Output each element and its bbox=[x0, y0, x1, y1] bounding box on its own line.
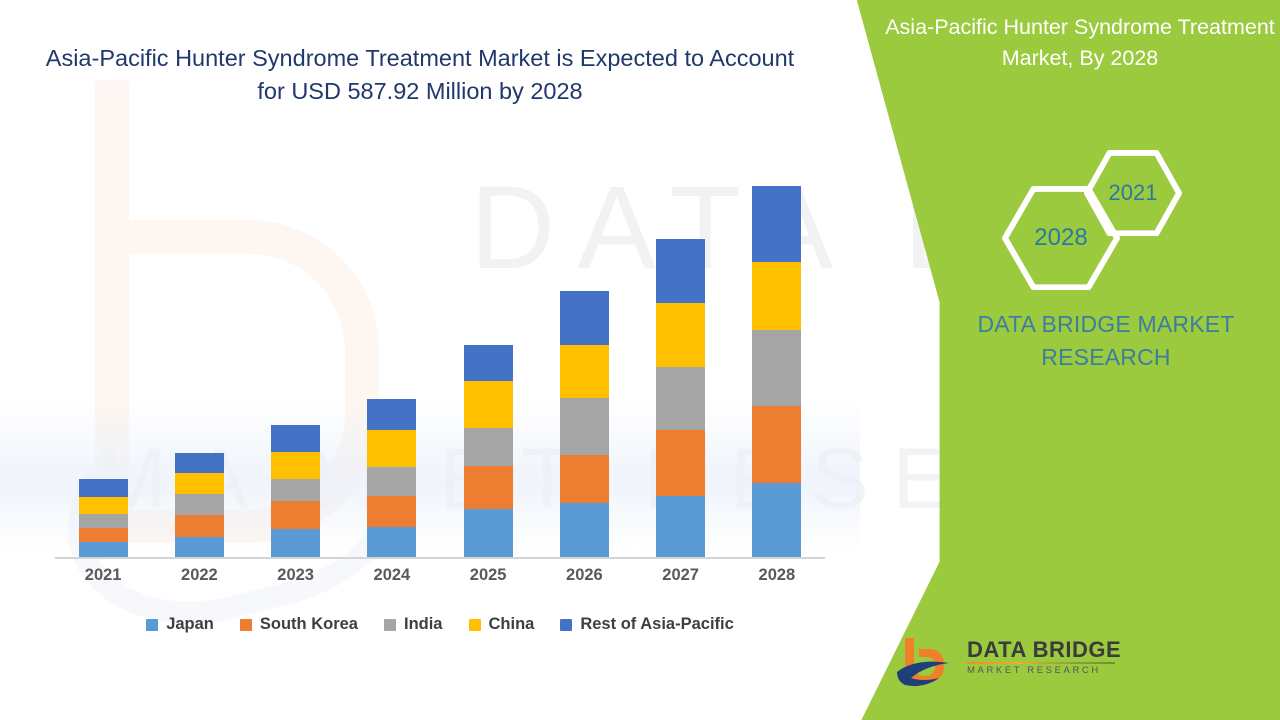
legend-label: Rest of Asia-Pacific bbox=[580, 615, 733, 634]
logo-tagline: MARKET RESEARCH bbox=[967, 665, 1117, 676]
bar-slot-2028 bbox=[729, 150, 825, 558]
stacked-bar-2027[interactable] bbox=[656, 239, 705, 558]
stacked-bar-2024[interactable] bbox=[367, 399, 416, 558]
bar-segment[interactable] bbox=[79, 514, 128, 528]
x-axis-line bbox=[55, 557, 825, 559]
bar-slot-2025 bbox=[440, 150, 536, 558]
bar-segment[interactable] bbox=[464, 381, 513, 428]
bar-slot-2022 bbox=[151, 150, 247, 558]
legend-item[interactable]: South Korea bbox=[240, 615, 358, 634]
hexagon-2028-label: 2028 bbox=[1034, 224, 1087, 252]
bar-segment[interactable] bbox=[464, 345, 513, 381]
bar-segment[interactable] bbox=[79, 479, 128, 497]
x-axis-label-2022: 2022 bbox=[151, 566, 247, 585]
logo-mark-icon bbox=[895, 636, 957, 694]
x-axis-label-2027: 2027 bbox=[633, 566, 729, 585]
legend-swatch-icon bbox=[240, 619, 252, 631]
x-axis-label-2028: 2028 bbox=[729, 566, 825, 585]
infographic-root: DATA BRIDGE MARKET RESEARCH Asia-Pacific… bbox=[0, 0, 1280, 720]
bar-segment[interactable] bbox=[367, 527, 416, 558]
legend-swatch-icon bbox=[560, 619, 572, 631]
bar-segment[interactable] bbox=[271, 501, 320, 529]
bar-slot-2024 bbox=[344, 150, 440, 558]
hexagon-2021-label: 2021 bbox=[1109, 180, 1158, 206]
bar-segment[interactable] bbox=[79, 528, 128, 542]
stacked-bar-chart bbox=[55, 150, 825, 558]
logo-wordmark: DATA BRIDGE MARKET RESEARCH bbox=[967, 638, 1117, 676]
bar-segment[interactable] bbox=[752, 483, 801, 558]
legend-item[interactable]: India bbox=[384, 615, 443, 634]
legend-label: India bbox=[404, 615, 443, 634]
bar-segment[interactable] bbox=[271, 452, 320, 479]
bar-segment[interactable] bbox=[175, 453, 224, 473]
legend-item[interactable]: Rest of Asia-Pacific bbox=[560, 615, 733, 634]
bar-segment[interactable] bbox=[560, 398, 609, 455]
bar-segment[interactable] bbox=[560, 345, 609, 398]
bar-segment[interactable] bbox=[271, 425, 320, 452]
bar-slot-2027 bbox=[633, 150, 729, 558]
bar-segment[interactable] bbox=[175, 537, 224, 558]
bar-segment[interactable] bbox=[79, 497, 128, 514]
legend-item[interactable]: China bbox=[469, 615, 535, 634]
legend-item[interactable]: Japan bbox=[146, 615, 214, 634]
panel-brand-text: DATA BRIDGE MARKET RESEARCH bbox=[956, 308, 1256, 373]
bar-segment[interactable] bbox=[752, 330, 801, 406]
bar-segment[interactable] bbox=[560, 455, 609, 503]
logo-divider bbox=[967, 662, 1115, 664]
x-axis-label-2021: 2021 bbox=[55, 566, 151, 585]
legend-swatch-icon bbox=[384, 619, 396, 631]
x-axis-label-2024: 2024 bbox=[344, 566, 440, 585]
bar-segment[interactable] bbox=[271, 479, 320, 501]
bar-segment[interactable] bbox=[752, 406, 801, 483]
bar-slot-2026 bbox=[536, 150, 632, 558]
legend-label: China bbox=[489, 615, 535, 634]
hexagon-2028: 2028 bbox=[1002, 186, 1120, 290]
stacked-bar-2028[interactable] bbox=[752, 186, 801, 558]
logo-title: DATA BRIDGE bbox=[967, 638, 1117, 661]
bar-segment[interactable] bbox=[752, 262, 801, 330]
bar-segment[interactable] bbox=[464, 466, 513, 509]
bar-segment[interactable] bbox=[367, 430, 416, 467]
hexagon-group: 2021 2028 bbox=[992, 150, 1202, 290]
bar-segment[interactable] bbox=[464, 428, 513, 466]
bar-segment[interactable] bbox=[175, 515, 224, 537]
stacked-bar-2023[interactable] bbox=[271, 425, 320, 558]
bar-segment[interactable] bbox=[175, 494, 224, 515]
chart-legend: JapanSouth KoreaIndiaChinaRest of Asia-P… bbox=[55, 615, 825, 634]
data-bridge-logo: DATA BRIDGE MARKET RESEARCH bbox=[895, 634, 1110, 696]
x-axis-label-2023: 2023 bbox=[248, 566, 344, 585]
bar-slot-2023 bbox=[248, 150, 344, 558]
x-axis-label-2025: 2025 bbox=[440, 566, 536, 585]
bar-segment[interactable] bbox=[656, 496, 705, 558]
stacked-bar-2022[interactable] bbox=[175, 453, 224, 558]
stacked-bar-2021[interactable] bbox=[79, 479, 128, 558]
bar-segment[interactable] bbox=[271, 529, 320, 558]
bar-segment[interactable] bbox=[367, 399, 416, 430]
stacked-bar-2025[interactable] bbox=[464, 345, 513, 558]
bar-segment[interactable] bbox=[656, 367, 705, 430]
stacked-bar-2026[interactable] bbox=[560, 291, 609, 558]
bar-segment[interactable] bbox=[464, 509, 513, 558]
legend-swatch-icon bbox=[469, 619, 481, 631]
x-axis-label-2026: 2026 bbox=[536, 566, 632, 585]
bar-segment[interactable] bbox=[560, 291, 609, 345]
bar-segment[interactable] bbox=[656, 430, 705, 496]
bar-slot-2021 bbox=[55, 150, 151, 558]
bar-segment[interactable] bbox=[367, 496, 416, 527]
bar-segment[interactable] bbox=[752, 186, 801, 262]
legend-swatch-icon bbox=[146, 619, 158, 631]
legend-label: South Korea bbox=[260, 615, 358, 634]
bar-segment[interactable] bbox=[656, 239, 705, 303]
bar-segment[interactable] bbox=[560, 503, 609, 558]
bar-segment[interactable] bbox=[656, 303, 705, 367]
legend-label: Japan bbox=[166, 615, 214, 634]
x-axis-labels: 20212022202320242025202620272028 bbox=[55, 566, 825, 585]
panel-title: Asia-Pacific Hunter Syndrome Treatment M… bbox=[880, 12, 1280, 74]
bar-segment[interactable] bbox=[367, 467, 416, 496]
chart-title: Asia-Pacific Hunter Syndrome Treatment M… bbox=[40, 42, 800, 109]
bar-segment[interactable] bbox=[175, 473, 224, 494]
bar-segment[interactable] bbox=[79, 542, 128, 558]
